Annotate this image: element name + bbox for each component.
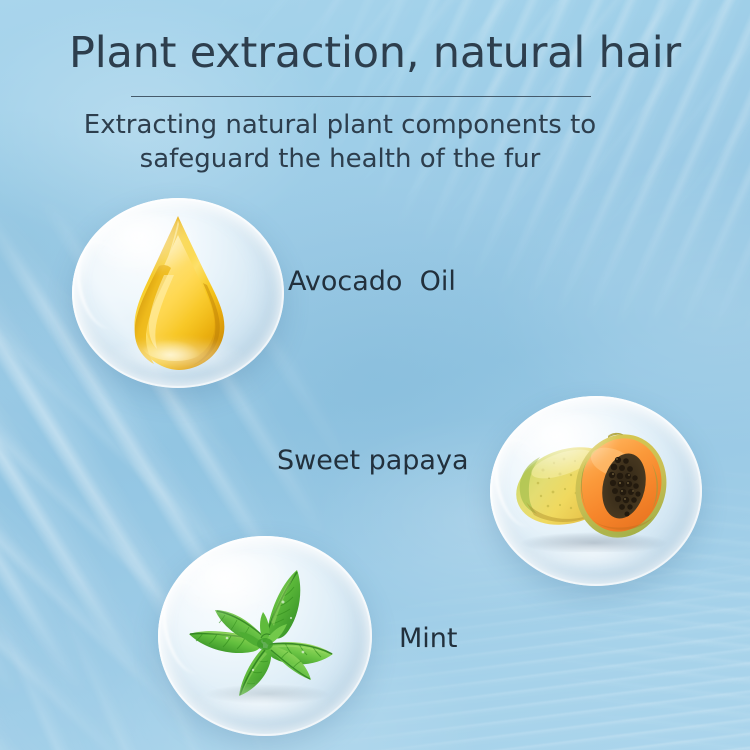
- bubble-bottom-sheen: [106, 337, 246, 375]
- ingredient-bubble-avocado-oil: [72, 198, 284, 388]
- bubble-bottom-sheen: [524, 535, 664, 573]
- page-title: Plant extraction, natural hair: [0, 30, 750, 77]
- subtitle-line-1: Extracting natural plant components to: [60, 108, 620, 142]
- ingredient-bubble-sweet-papaya: [490, 396, 702, 586]
- ingredient-bubble-mint: [158, 536, 372, 736]
- page-subtitle: Extracting natural plant components to s…: [60, 108, 620, 177]
- ingredient-label-mint: Mint: [399, 623, 458, 654]
- bubble-bottom-sheen: [192, 682, 333, 722]
- ingredient-label-avocado-oil: Avocado Oil: [288, 266, 456, 297]
- product-feature-banner: Plant extraction, natural hair Extractin…: [0, 0, 750, 750]
- title-divider: [131, 96, 591, 97]
- ingredient-label-sweet-papaya: Sweet papaya: [277, 445, 469, 476]
- subtitle-line-2: safeguard the health of the fur: [60, 142, 620, 176]
